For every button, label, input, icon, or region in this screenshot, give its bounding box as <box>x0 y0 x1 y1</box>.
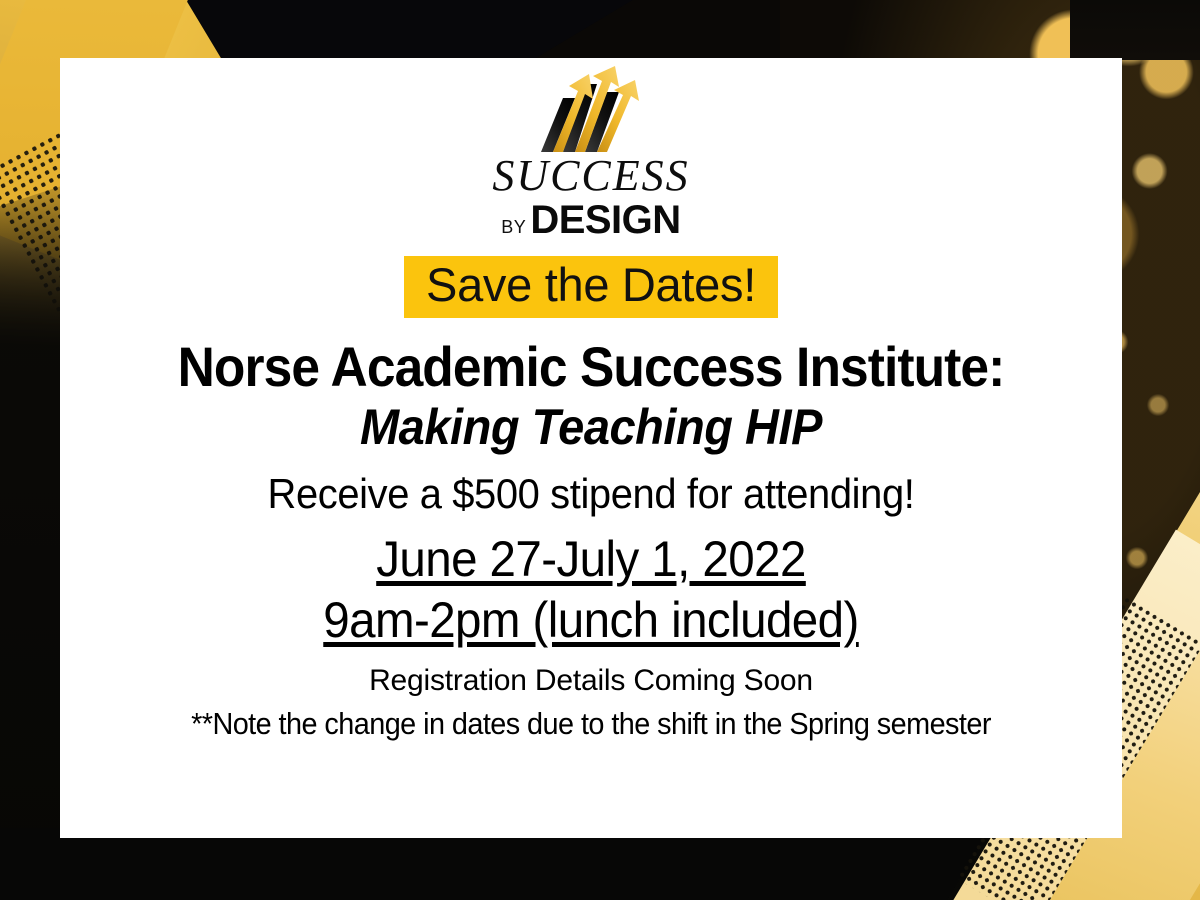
top-right-black-block <box>1070 0 1200 60</box>
stipend-line: Receive a $500 stipend for attending! <box>87 470 1096 518</box>
event-time-line: 9am-2pm (lunch included) <box>87 591 1096 650</box>
event-subtitle: Making Teaching HIP <box>92 401 1090 454</box>
bottom-black-band <box>0 828 1060 900</box>
gold-arrows-icon <box>535 66 665 158</box>
event-title: Norse Academic Success Institute: <box>102 338 1079 395</box>
poster-canvas: SUCCESS BY DESIGN Save the Dates! Norse … <box>0 0 1200 900</box>
registration-note: Registration Details Coming Soon <box>60 664 1122 698</box>
logo-wordmark: SUCCESS BY DESIGN <box>492 154 689 240</box>
poster-content: Save the Dates! Norse Academic Success I… <box>60 248 1122 742</box>
logo-by-design-row: BY DESIGN <box>501 200 680 240</box>
logo-success-text: SUCCESS <box>492 154 689 198</box>
event-time-underline: 9am-2pm (lunch included) <box>323 592 858 648</box>
event-date-underline: June 27-July 1, 2022 <box>376 531 806 587</box>
date-change-note: **Note the change in dates due to the sh… <box>97 706 1085 742</box>
save-the-dates-row: Save the Dates! <box>60 256 1122 318</box>
logo-by-text: BY <box>501 218 526 236</box>
left-black-edge <box>0 0 62 900</box>
save-the-dates-banner: Save the Dates! <box>404 256 778 318</box>
success-by-design-logo: SUCCESS BY DESIGN <box>60 66 1122 240</box>
white-content-card: SUCCESS BY DESIGN Save the Dates! Norse … <box>60 58 1122 838</box>
logo-design-text: DESIGN <box>530 200 680 240</box>
event-date-line: June 27-July 1, 2022 <box>87 530 1096 589</box>
